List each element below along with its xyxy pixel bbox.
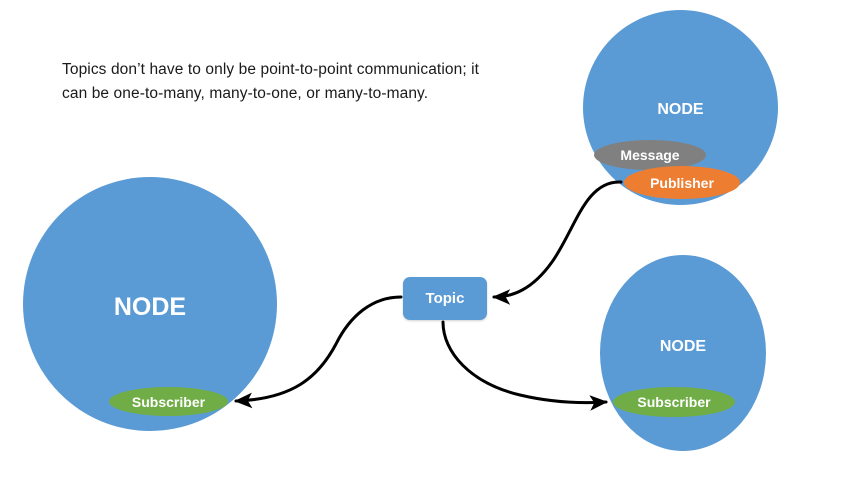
node-label-bottom-right: NODE: [600, 338, 766, 356]
slide-canvas: Topics don’t have to only be point-to-po…: [0, 0, 854, 480]
topic-box[interactable]: Topic: [403, 277, 487, 320]
pill-publisher-top-right[interactable]: Publisher: [624, 166, 740, 199]
node-label-left: NODE: [23, 293, 277, 322]
arrow-topic-to-subscriber-bottom-right: [443, 322, 606, 403]
node-label-top-right: NODE: [583, 101, 778, 119]
pill-subscriber-bottom-right[interactable]: Subscriber: [613, 387, 735, 417]
pill-subscriber-left[interactable]: Subscriber: [109, 387, 228, 416]
arrow-publisher-to-topic: [494, 182, 621, 297]
